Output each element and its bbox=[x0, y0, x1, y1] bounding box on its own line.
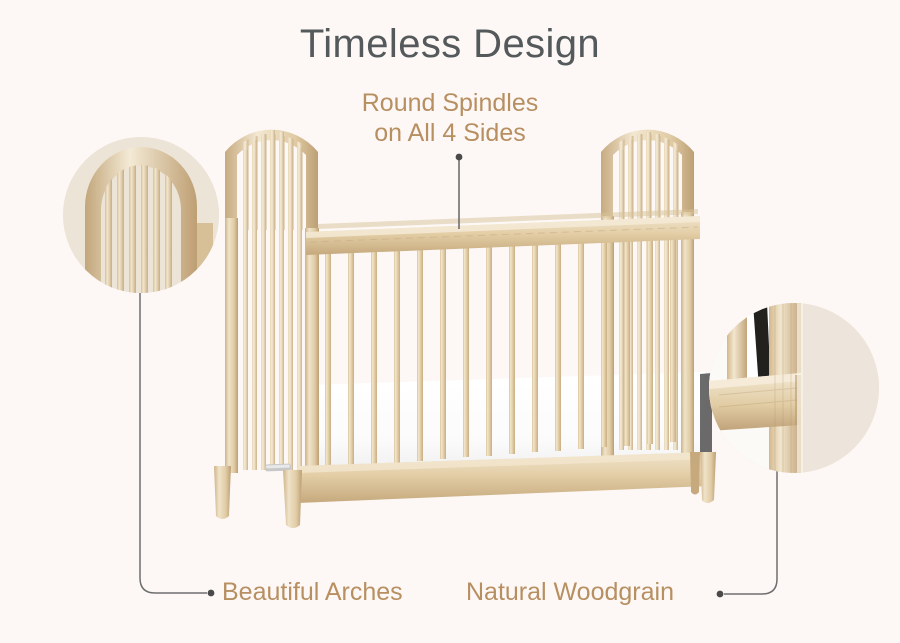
arch-detail-graphic bbox=[63, 137, 219, 293]
callout-spindles-line1: Round Spindles bbox=[362, 89, 539, 117]
infographic-canvas: Timeless Design Round Spindles on All 4 … bbox=[0, 0, 900, 643]
callout-spindles-line2: on All 4 Sides bbox=[0, 118, 900, 148]
callout-label-woodgrain: Natural Woodgrain bbox=[466, 578, 674, 607]
callout-label-arches: Beautiful Arches bbox=[222, 578, 403, 607]
woodgrain-detail-graphic bbox=[709, 303, 879, 473]
page-title: Timeless Design bbox=[0, 22, 900, 67]
inset-woodgrain-detail bbox=[709, 303, 879, 473]
inset-arch-detail bbox=[63, 137, 219, 293]
callout-label-spindles: Round Spindles on All 4 Sides bbox=[0, 88, 900, 148]
